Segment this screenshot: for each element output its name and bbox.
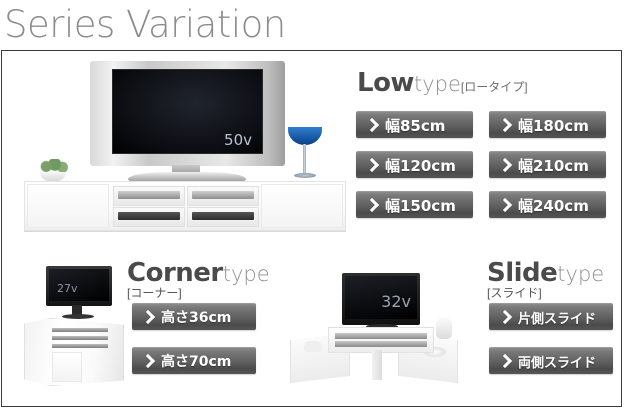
- low-type-kana: [ロータイプ]: [461, 80, 528, 94]
- corner-cabinet-shelves: [52, 328, 108, 348]
- slide-option-label-1: 片側スライド: [518, 308, 596, 327]
- corner-option-label-2: 高さ70cm: [161, 351, 231, 371]
- slide-shelf-1: [335, 333, 427, 339]
- decorative-plant: [34, 159, 72, 183]
- corner-television: 27v: [46, 266, 112, 306]
- chevron-right-icon: [498, 118, 511, 133]
- vase-foot: [294, 173, 316, 178]
- vase-bowl: [288, 127, 322, 145]
- chevron-right-icon: [498, 198, 511, 213]
- cabinet-door-left: [27, 184, 109, 228]
- slide-shelf-2: [335, 341, 427, 347]
- page-title: Series Variation: [4, 2, 286, 48]
- low-option-button-1[interactable]: 幅85cm: [356, 111, 473, 138]
- corner-type-product-photo: 27v: [22, 256, 127, 388]
- slide-option-label-2: 両側スライド: [518, 352, 596, 371]
- low-option-button-2[interactable]: 幅180cm: [489, 111, 606, 138]
- chevron-right-icon: [141, 310, 154, 325]
- corner-television-screen: 27v: [49, 269, 109, 301]
- low-option-label-5: 幅150cm: [385, 195, 456, 216]
- corner-option-button-1[interactable]: 高さ36cm: [132, 303, 256, 330]
- low-type-name: Low: [357, 68, 414, 98]
- cabinet-shelf-4: [187, 207, 259, 227]
- corner-type-heading: Cornertype [コーナー]: [127, 258, 270, 301]
- tv-size-label: 27v: [57, 282, 78, 295]
- television-screen: 50v: [112, 69, 263, 154]
- cabinet-shelf-1: [113, 186, 185, 206]
- slide-television: 32v: [342, 273, 420, 325]
- corner-option-label-1: 高さ36cm: [161, 307, 231, 327]
- variation-panel: 50v Lowtype[ロータイプ] 幅85cm: [1, 50, 622, 407]
- chevron-right-icon: [498, 310, 511, 325]
- corner-option-button-2[interactable]: 高さ70cm: [132, 347, 256, 374]
- chevron-right-icon: [365, 118, 378, 133]
- blue-glass-vase: [288, 127, 322, 183]
- low-option-button-5[interactable]: 幅150cm: [356, 191, 473, 218]
- corner-shelf-1: [52, 328, 108, 332]
- low-option-button-6[interactable]: 幅240cm: [489, 191, 606, 218]
- low-option-button-3[interactable]: 幅120cm: [356, 151, 473, 178]
- low-option-button-4[interactable]: 幅210cm: [489, 151, 606, 178]
- chevron-right-icon: [365, 198, 378, 213]
- cabinet-shelf-2: [187, 186, 259, 206]
- television-bezel: 50v: [90, 61, 285, 166]
- chevron-right-icon: [498, 158, 511, 173]
- av-device-3: [118, 212, 180, 220]
- low-option-label-4: 幅210cm: [518, 155, 589, 176]
- slide-type-subname: type: [557, 262, 604, 286]
- corner-shelf-3: [52, 344, 108, 348]
- av-device-2: [192, 191, 254, 199]
- vase-stem: [303, 144, 306, 174]
- corner-shelf-2: [52, 336, 108, 340]
- plant-pot: [40, 172, 66, 181]
- slide-type-heading: Slidetype [スライド]: [487, 258, 604, 301]
- slide-option-button-2[interactable]: 両側スライド: [489, 347, 613, 374]
- low-type-heading: Lowtype[ロータイプ]: [357, 68, 528, 98]
- low-option-label-2: 幅180cm: [518, 115, 589, 136]
- corner-cabinet-drawer: [52, 352, 82, 382]
- chevron-right-icon: [365, 158, 378, 173]
- chevron-right-icon: [498, 354, 511, 369]
- av-device-4: [192, 212, 254, 220]
- slide-option-button-1[interactable]: 片側スライド: [489, 303, 613, 330]
- corner-tv-base: [62, 314, 94, 319]
- slide-type-product-photo: 32v: [290, 261, 458, 389]
- decorative-figurine: [304, 341, 322, 352]
- decorative-white-vase: [436, 317, 452, 339]
- low-option-label-6: 幅240cm: [518, 195, 589, 216]
- slide-center-leg: [372, 350, 382, 380]
- cabinet-shelf-3: [113, 207, 185, 227]
- low-type-product-photo: 50v: [20, 55, 350, 235]
- chevron-right-icon: [141, 354, 154, 369]
- slide-television-screen: 32v: [345, 276, 417, 319]
- tv-size-label: 50v: [224, 131, 252, 149]
- low-option-label-1: 幅85cm: [385, 115, 445, 136]
- low-type-subname: type: [414, 72, 461, 96]
- cabinet-door-right: [261, 184, 343, 228]
- av-device-1: [118, 191, 180, 199]
- corner-type-subname: type: [223, 262, 270, 286]
- tv-size-label: 32v: [381, 292, 411, 311]
- low-tv-cabinet: [24, 181, 346, 231]
- low-option-label-3: 幅120cm: [385, 155, 456, 176]
